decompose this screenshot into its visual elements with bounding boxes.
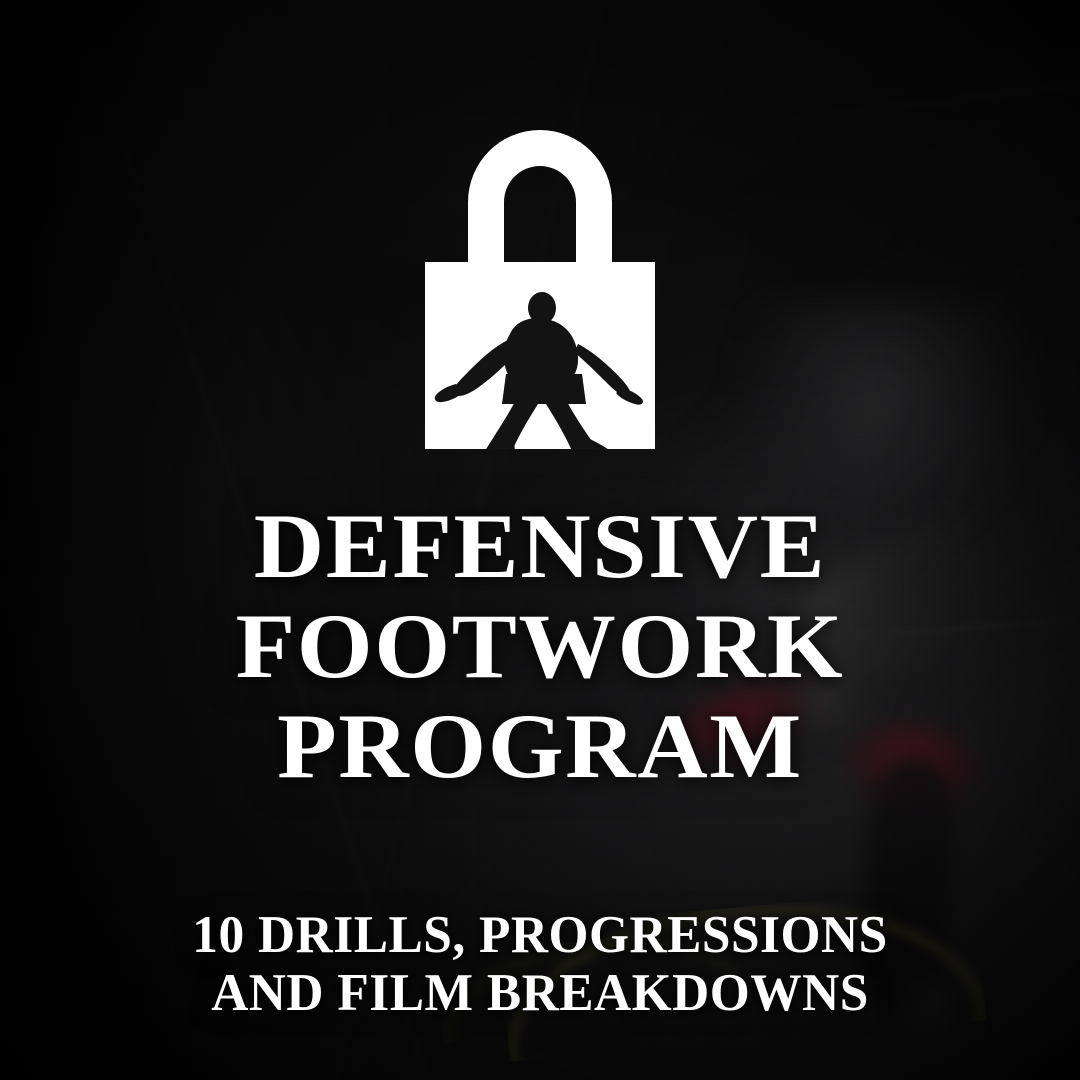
title-line-1: DEFENSIVE FOOTWORK xyxy=(0,496,1080,696)
title-line-2: PROGRAM xyxy=(0,696,1080,796)
lock-shackle-icon xyxy=(468,130,612,270)
page-subtitle: 10 DRILLS, PROGRESSIONS AND FILM BREAKDO… xyxy=(0,906,1080,1022)
subtitle-line-2: AND FILM BREAKDOWNS xyxy=(16,964,1064,1022)
subtitle-line-1: 10 DRILLS, PROGRESSIONS xyxy=(16,906,1064,964)
poster-content: DEFENSIVE FOOTWORK PROGRAM 10 DRILLS, PR… xyxy=(0,0,1080,1080)
course-thumbnail-poster[interactable]: DEFENSIVE FOOTWORK PROGRAM 10 DRILLS, PR… xyxy=(0,0,1080,1080)
page-title: DEFENSIVE FOOTWORK PROGRAM xyxy=(0,496,1080,796)
lock-icon xyxy=(406,112,674,452)
